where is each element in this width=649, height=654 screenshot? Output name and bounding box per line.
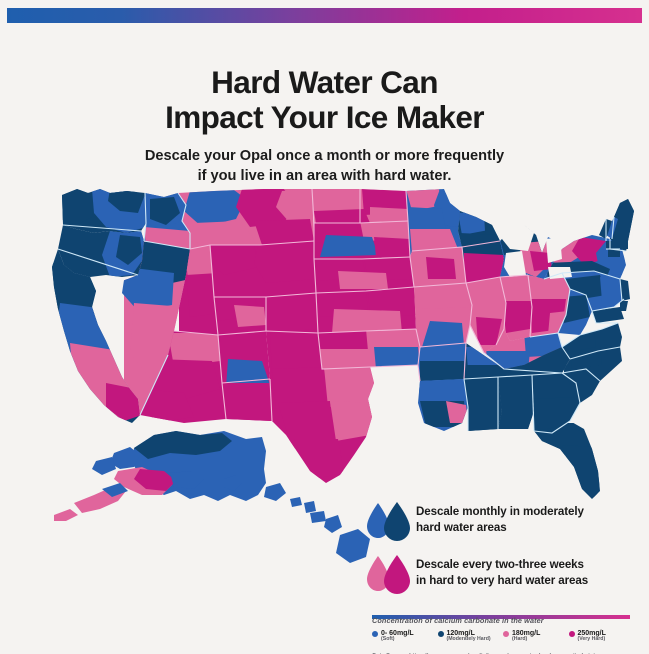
pink-water-droplets-icon <box>364 553 416 595</box>
legend-text-moderate: Descale monthly in moderately hard water… <box>416 500 584 535</box>
swatch-item-hard: 180mg/L (Hard) <box>503 630 569 643</box>
swatch-item-soft: 0- 60mg/L (Soft) <box>372 630 438 643</box>
page-title: Hard Water Can Impact Your Ice Maker <box>0 65 649 135</box>
scale-gradient-bar <box>372 606 630 610</box>
legend-panel: Descale monthly in moderately hard water… <box>364 500 634 654</box>
swatch-labels-very-hard: 250mg/L (Very Hard) <box>578 630 606 643</box>
state-massachusetts <box>606 241 628 249</box>
swatch-dot-hard <box>503 631 509 637</box>
legend-moderate-line-2: hard water areas <box>416 520 584 536</box>
blue-droplets-svg <box>364 500 416 542</box>
state-wyoming <box>204 238 324 300</box>
swatch-sub-very-hard: (Very Hard) <box>578 637 606 642</box>
infographic-canvas: Hard Water Can Impact Your Ice Maker Des… <box>0 0 649 654</box>
swatch-labels-moderately-hard: 120mg/L (Moderately Hard) <box>447 630 491 643</box>
legend-moderate-line-1: Descale monthly in moderately <box>416 504 584 520</box>
swatch-labels-soft: 0- 60mg/L (Soft) <box>381 630 414 643</box>
swatch-list: 0- 60mg/L (Soft) 120mg/L (Moderately Har… <box>372 630 634 643</box>
title-line-1: Hard Water Can <box>0 65 649 100</box>
swatch-sub-hard: (Hard) <box>512 637 540 642</box>
swatch-sub-soft: (Soft) <box>381 637 414 642</box>
title-line-2: Impact Your Ice Maker <box>0 100 649 135</box>
swatch-dot-moderately-hard <box>438 631 444 637</box>
lake-huron <box>546 237 562 263</box>
legend-hard-line-1: Descale every two-three weeks <box>416 557 588 573</box>
state-minnesota <box>404 183 466 258</box>
swatch-item-very-hard: 250mg/L (Very Hard) <box>569 630 635 643</box>
gradient-bar <box>7 8 642 23</box>
subtitle-line-1: Descale your Opal once a month or more f… <box>0 146 649 166</box>
legend-row-moderate: Descale monthly in moderately hard water… <box>364 500 634 542</box>
swatch-item-moderately-hard: 120mg/L (Moderately Hard) <box>438 630 504 643</box>
legend-row-hard: Descale every two-three weeks in hard to… <box>364 553 634 595</box>
page-subtitle: Descale your Opal once a month or more f… <box>0 146 649 186</box>
swatch-dot-soft <box>372 631 378 637</box>
pink-droplets-svg <box>364 553 416 595</box>
swatch-dot-very-hard <box>569 631 575 637</box>
state-south-dakota <box>309 218 414 263</box>
gradient-bar-svg <box>7 8 642 23</box>
legend-text-hard: Descale every two-three weeks in hard to… <box>416 553 588 588</box>
swatch-labels-hard: 180mg/L (Hard) <box>512 630 540 643</box>
state-delaware <box>620 301 628 311</box>
blue-water-droplets-icon <box>364 500 416 542</box>
swatch-sub-moderately-hard: (Moderately Hard) <box>447 637 491 642</box>
state-florida <box>530 423 605 503</box>
legend-hard-line-2: in hard to very hard water areas <box>416 573 588 589</box>
